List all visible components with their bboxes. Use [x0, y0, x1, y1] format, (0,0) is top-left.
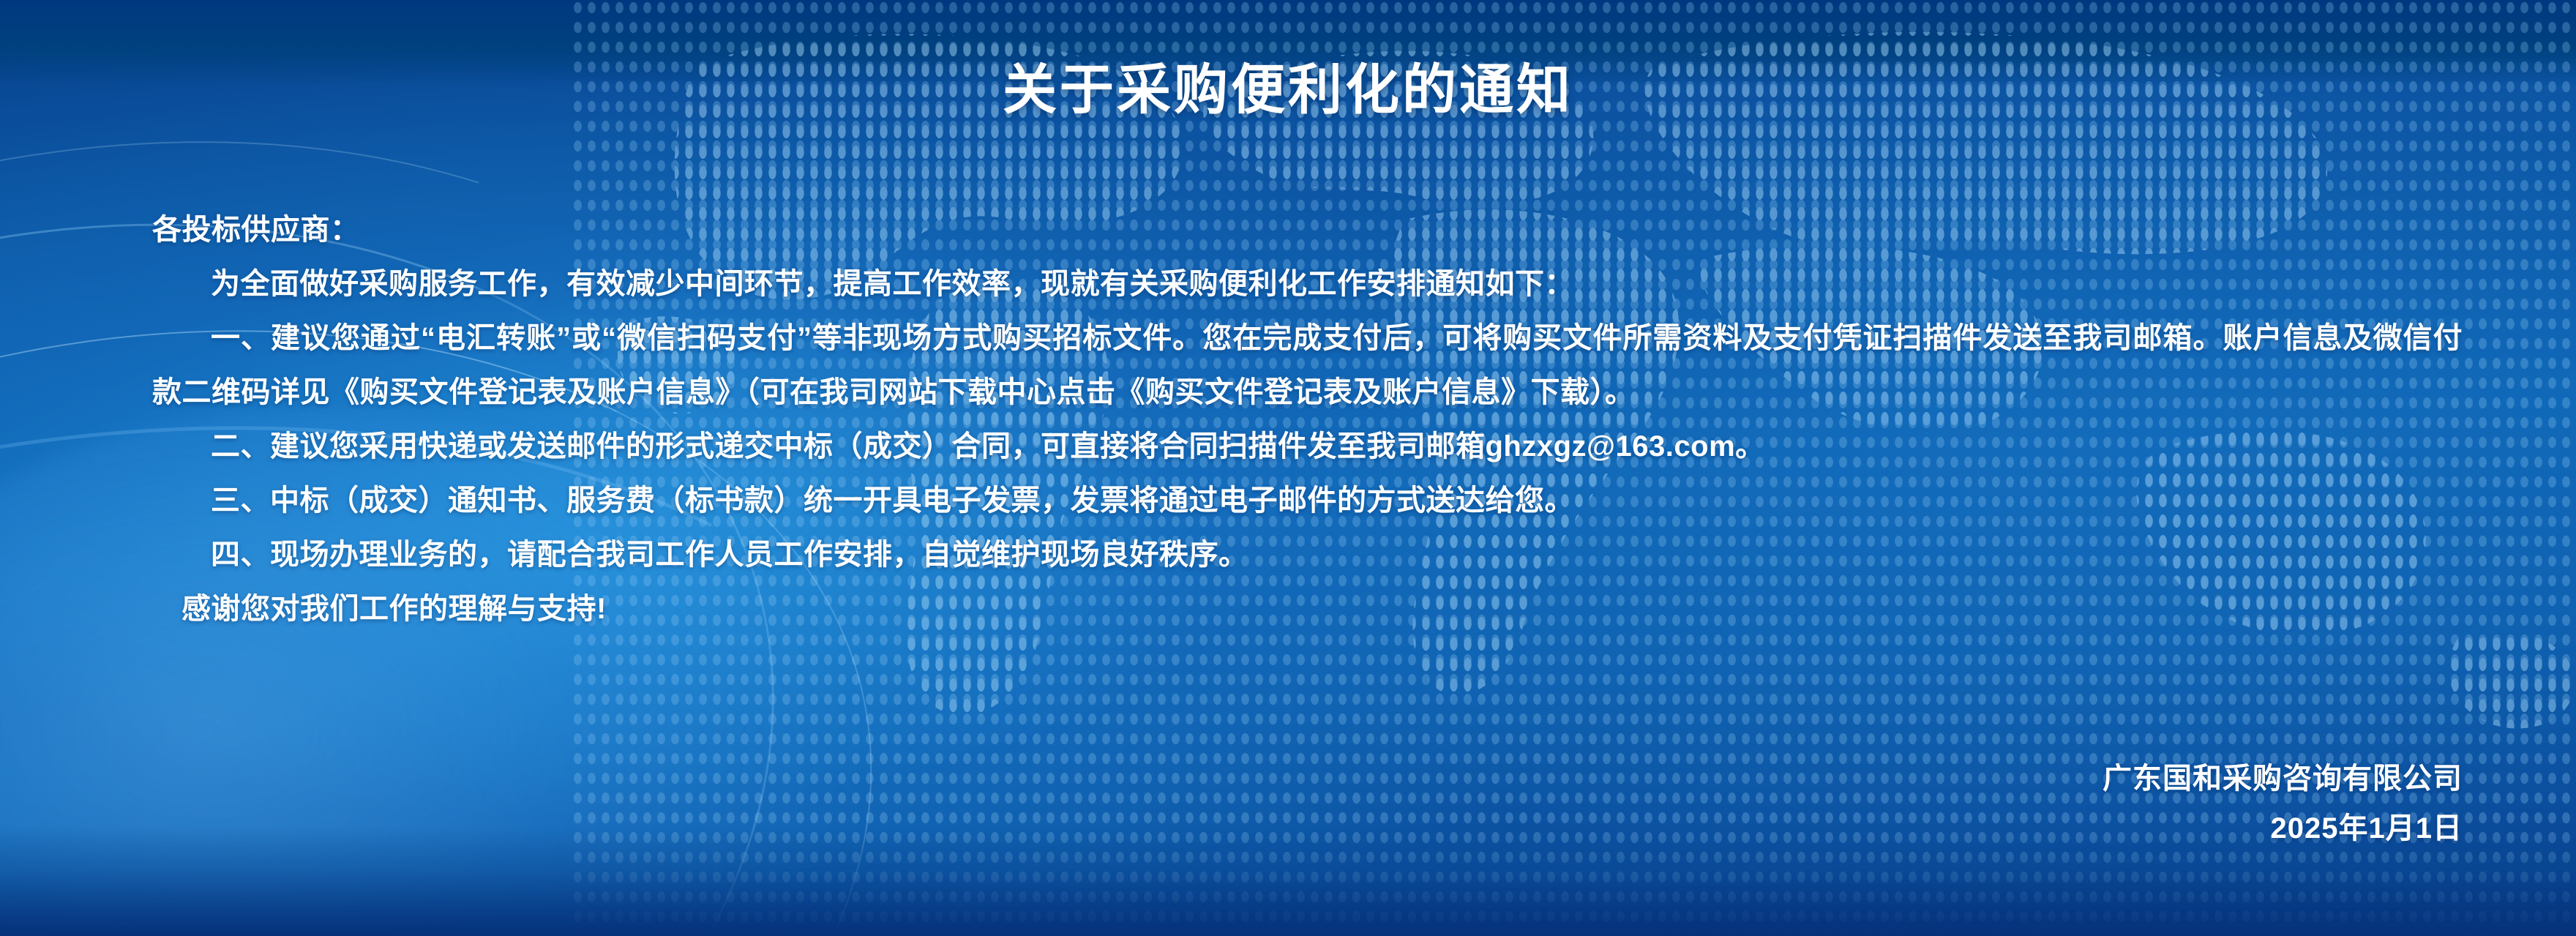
- page-title: 关于采购便利化的通知: [0, 63, 2576, 117]
- signature-date: 2025年1月1日: [2103, 804, 2463, 853]
- salutation: 各投标供应商：: [152, 203, 2463, 257]
- notice-content: 关于采购便利化的通知 各投标供应商： 为全面做好采购服务工作，有效减少中间环节，…: [0, 0, 2576, 936]
- paragraph-item-4: 四、现场办理业务的，请配合我司工作人员工作安排，自觉维护现场良好秩序。: [152, 528, 2463, 582]
- signature-company: 广东国和采购咨询有限公司: [2103, 754, 2463, 804]
- notice-banner: 关于采购便利化的通知 各投标供应商： 为全面做好采购服务工作，有效减少中间环节，…: [0, 0, 2576, 936]
- signature-block: 广东国和采购咨询有限公司 2025年1月1日: [2103, 754, 2463, 853]
- paragraph-item-3: 三、中标（成交）通知书、服务费（标书款）统一开具电子发票，发票将通过电子邮件的方…: [152, 473, 2463, 528]
- paragraph-intro: 为全面做好采购服务工作，有效减少中间环节，提高工作效率，现就有关采购便利化工作安…: [152, 257, 2463, 311]
- notice-body: 各投标供应商： 为全面做好采购服务工作，有效减少中间环节，提高工作效率，现就有关…: [152, 203, 2463, 636]
- paragraph-item-2: 二、建议您采用快递或发送邮件的形式递交中标（成交）合同，可直接将合同扫描件发至我…: [152, 419, 2463, 473]
- closing-line: 感谢您对我们工作的理解与支持!: [152, 582, 2463, 636]
- paragraph-item-1: 一、建议您通过“电汇转账”或“微信扫码支付”等非现场方式购买招标文件。您在完成支…: [152, 311, 2463, 419]
